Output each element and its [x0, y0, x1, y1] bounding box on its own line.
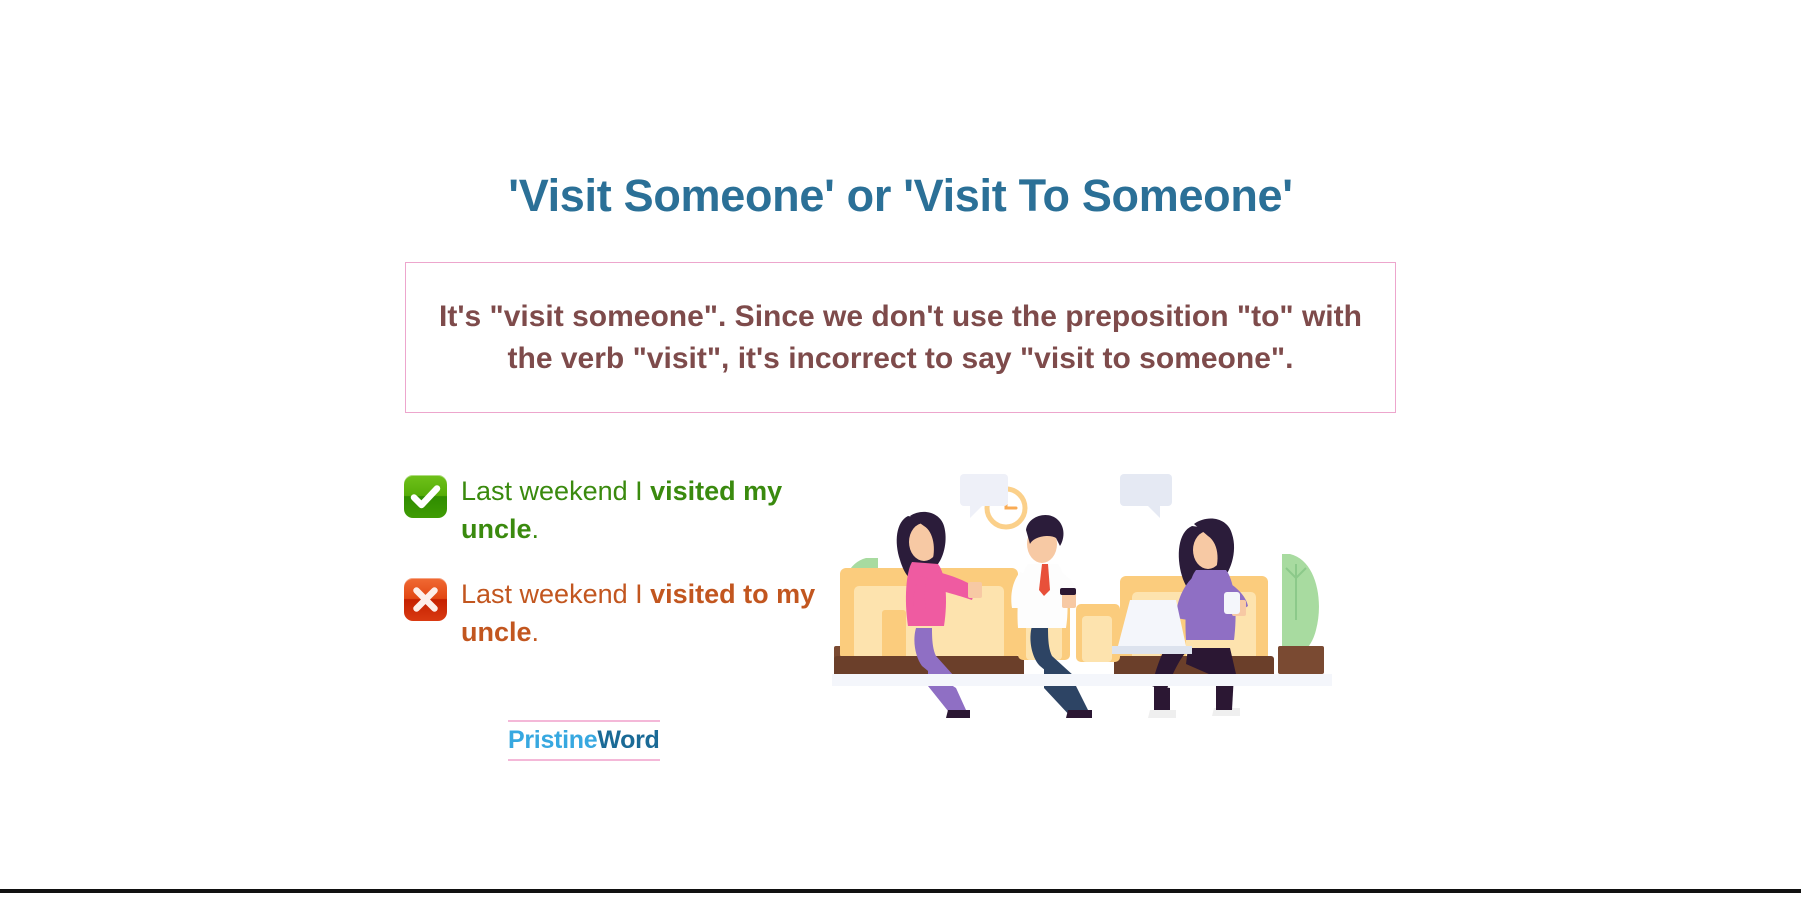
examples-list: Last weekend I visited my uncle. Last we…	[404, 472, 834, 677]
example-text-correct: Last weekend I visited my uncle.	[461, 472, 831, 549]
woman-purple-shirt-with-laptop	[1112, 519, 1248, 718]
answer-box: It's "visit someone". Since we don't use…	[405, 262, 1396, 413]
example-tail: .	[532, 514, 540, 544]
example-text-incorrect: Last weekend I visited to my uncle.	[461, 575, 831, 652]
logo-part-two: Word	[597, 726, 659, 754]
example-tail: .	[532, 617, 540, 647]
example-row-incorrect: Last weekend I visited to my uncle.	[404, 575, 834, 652]
example-lead: Last weekend I	[461, 579, 650, 609]
speech-bubble-left	[960, 474, 1008, 518]
example-row-correct: Last weekend I visited my uncle.	[404, 472, 834, 549]
page-root: 'Visit Someone' or 'Visit To Someone' It…	[0, 0, 1801, 893]
example-lead: Last weekend I	[461, 476, 650, 506]
answer-text: It's "visit someone". Since we don't use…	[418, 296, 1384, 379]
pristineword-logo: PristineWord	[508, 720, 660, 761]
speech-bubble-right	[1120, 474, 1172, 518]
people-sitting-on-sofas-illustration	[820, 460, 1368, 760]
green-check-icon	[404, 475, 447, 518]
red-cross-icon	[404, 578, 447, 621]
page-title: 'Visit Someone' or 'Visit To Someone'	[0, 170, 1801, 222]
logo-part-one: Pristine	[508, 726, 597, 754]
plant-right	[1278, 554, 1324, 674]
